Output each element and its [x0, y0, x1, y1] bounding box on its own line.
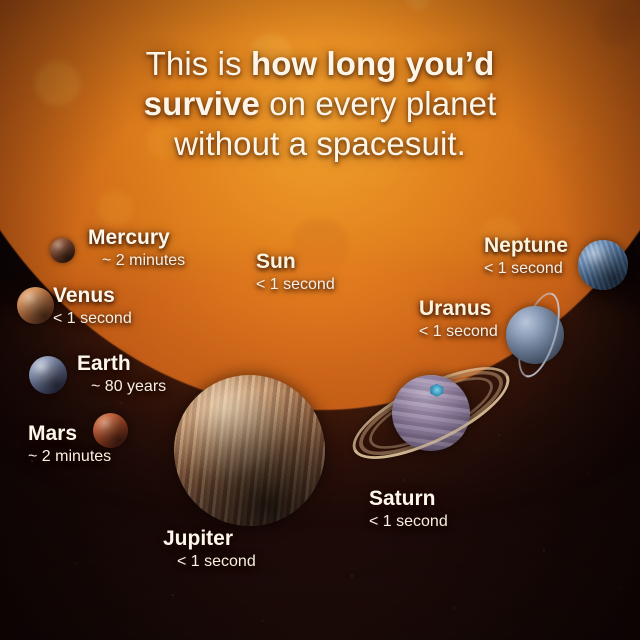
mercury-shading — [50, 238, 75, 263]
uranus-planet-icon — [498, 294, 580, 376]
label-mercury-name: Mercury — [88, 226, 185, 249]
earth-planet-icon — [29, 356, 67, 394]
title-part-3: survive — [144, 85, 260, 122]
label-earth-time: ~ 80 years — [91, 377, 166, 397]
label-venus-time: < 1 second — [53, 309, 132, 329]
title-part-1: This is — [146, 45, 251, 82]
saturn-planet-icon — [348, 338, 513, 488]
label-saturn: Saturn < 1 second — [369, 487, 448, 532]
label-earth-name: Earth — [77, 352, 166, 375]
label-sun-name: Sun — [256, 250, 335, 273]
venus-planet-icon — [17, 287, 54, 324]
label-jupiter-name: Jupiter — [163, 527, 256, 550]
title-part-4: on every planet — [260, 85, 496, 122]
infographic-canvas: This is how long you’d survive on every … — [0, 0, 640, 640]
label-sun: Sun < 1 second — [256, 250, 335, 295]
label-neptune-time: < 1 second — [484, 259, 568, 279]
earth-shading — [29, 356, 67, 394]
venus-shading — [17, 287, 54, 324]
label-sun-time: < 1 second — [256, 275, 335, 295]
jupiter-planet-icon — [174, 375, 325, 526]
label-mars-time: ~ 2 minutes — [28, 447, 111, 467]
label-mars-name: Mars — [28, 422, 111, 445]
label-mercury-time: ~ 2 minutes — [102, 251, 185, 271]
saturn-polar-vortex-icon — [429, 384, 444, 397]
label-neptune: Neptune < 1 second — [484, 234, 568, 279]
label-uranus-time: < 1 second — [419, 322, 498, 342]
title-part-2: how long you’d — [251, 45, 494, 82]
mercury-planet-icon — [50, 238, 75, 263]
page-title: This is how long you’d survive on every … — [0, 44, 640, 164]
label-saturn-name: Saturn — [369, 487, 448, 510]
label-mars: Mars ~ 2 minutes — [28, 422, 111, 467]
label-uranus-name: Uranus — [419, 297, 498, 320]
neptune-planet-icon — [578, 240, 628, 290]
label-venus-name: Venus — [53, 284, 132, 307]
title-part-5: without a spacesuit. — [174, 125, 466, 162]
neptune-shading — [578, 240, 628, 290]
label-earth: Earth ~ 80 years — [77, 352, 166, 397]
label-jupiter-time: < 1 second — [177, 552, 256, 572]
label-neptune-name: Neptune — [484, 234, 568, 257]
label-saturn-time: < 1 second — [369, 512, 448, 532]
label-venus: Venus < 1 second — [53, 284, 132, 329]
jupiter-shading — [174, 375, 325, 526]
label-uranus: Uranus < 1 second — [419, 297, 498, 342]
label-jupiter: Jupiter < 1 second — [163, 527, 256, 572]
label-mercury: Mercury ~ 2 minutes — [88, 226, 185, 271]
